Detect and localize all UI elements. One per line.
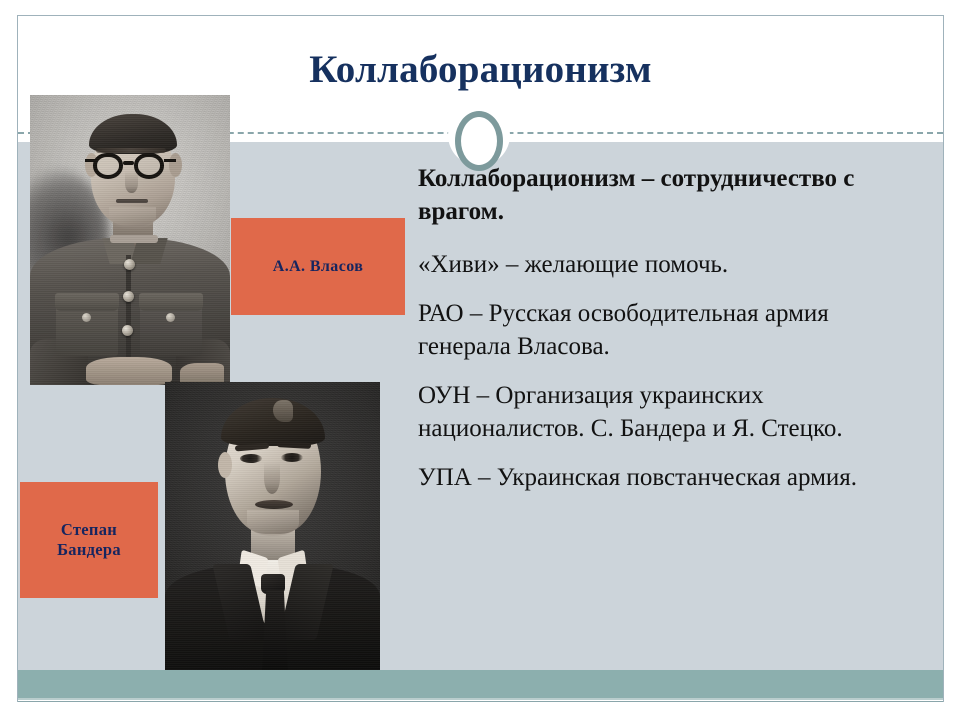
photo-vlasov-mouth: [116, 199, 148, 203]
body-paragraph-roa: РАО – Русская освободительная армия гене…: [418, 297, 918, 363]
caption-vlasov-label: А.А. Власов: [273, 257, 364, 277]
photo-vlasov-pocket-button-right: [166, 313, 175, 322]
photo-vlasov-button-3: [122, 325, 133, 336]
photo-vlasov-button-2: [123, 291, 134, 302]
caption-vlasov: А.А. Власов: [231, 218, 405, 315]
footer-rule-dark: [18, 701, 943, 702]
frame-rule-right: [943, 15, 944, 702]
photo-bandera-film-grain: [165, 382, 380, 672]
body-paragraph-definition: Коллаборационизм – сотрудничество с враг…: [418, 162, 918, 228]
body-paragraph-upa: УПА – Украинская повстанческая армия.: [418, 461, 918, 494]
caption-bandera: Степан Бандера: [20, 482, 158, 598]
footer-rule-light: [18, 698, 943, 700]
photo-bandera: [165, 382, 380, 672]
body-paragraph-oun: ОУН – Организация украинских националист…: [418, 379, 918, 445]
footer-band: [18, 670, 943, 698]
photo-vlasov-glasses-left: [93, 153, 123, 179]
photo-vlasov-glasses-bridge: [123, 161, 134, 165]
photo-vlasov-nose: [125, 171, 138, 193]
photo-vlasov: [30, 95, 230, 385]
photo-vlasov-chin: [109, 207, 156, 229]
photo-vlasov-glasses-temple-left: [85, 159, 96, 162]
caption-bandera-label: Степан Бандера: [57, 520, 121, 560]
photo-vlasov-glasses-temple-right: [164, 159, 176, 162]
caption-bandera-line-1: Степан: [57, 520, 121, 540]
caption-bandera-line-2: Бандера: [57, 540, 121, 560]
photo-vlasov-hands: [86, 357, 172, 385]
body-paragraph-hiwi: «Хиви» – желающие помочь.: [418, 248, 918, 281]
photo-vlasov-pocket-flap-left: [55, 293, 119, 311]
photo-vlasov-button-1: [124, 259, 135, 270]
slide-body-text: Коллаборационизм – сотрудничество с враг…: [418, 162, 918, 510]
slide-title: Коллаборационизм: [18, 47, 943, 93]
presentation-slide: Коллаборационизм: [0, 0, 960, 720]
photo-vlasov-pocket-flap-right: [139, 293, 203, 311]
photo-vlasov-pocket-button-left: [82, 313, 91, 322]
photo-vlasov-glasses-right: [134, 153, 164, 179]
photo-vlasov-collar-band: [110, 235, 158, 243]
photo-vlasov-ear-right: [169, 153, 182, 177]
